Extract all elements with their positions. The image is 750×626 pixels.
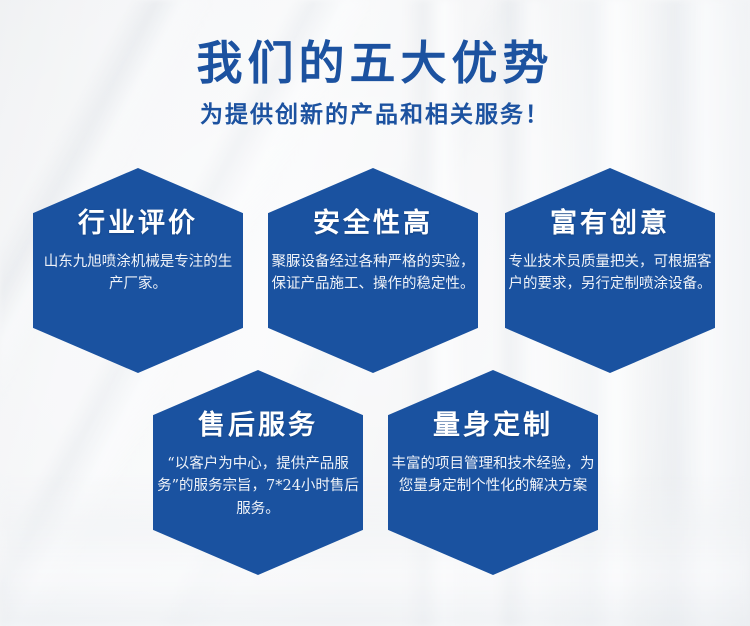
advantage-card-tailor-made: 量身定制 丰富的项目管理和技术经验，为您量身定制个性化的解决方案 <box>388 370 598 575</box>
advantage-description: 山东九旭喷涂机械是专注的生产厂家。 <box>42 251 234 296</box>
advantage-card-industry-evaluation: 行业评价 山东九旭喷涂机械是专注的生产厂家。 <box>33 168 243 373</box>
advantage-description: “以客户为中心，提供产品服务”的服务宗旨，7*24小时售后服务。 <box>156 453 361 520</box>
advantage-title: 量身定制 <box>433 412 553 439</box>
banner-heading: 我们的五大优势 为提供创新的产品和相关服务！ <box>0 38 750 129</box>
advantage-card-after-sales-service: 售后服务 “以客户为中心，提供产品服务”的服务宗旨，7*24小时售后服务。 <box>153 370 363 575</box>
advantages-banner: 我们的五大优势 为提供创新的产品和相关服务！ 行业评价 山东九旭喷涂机械是专注的… <box>0 0 750 626</box>
advantage-description: 丰富的项目管理和技术经验，为您量身定制个性化的解决方案 <box>391 453 596 498</box>
page-subtitle: 为提供创新的产品和相关服务！ <box>0 102 750 130</box>
page-title: 我们的五大优势 <box>0 38 750 90</box>
advantage-title: 富有创意 <box>550 210 670 237</box>
advantage-title: 行业评价 <box>78 210 198 237</box>
advantage-description: 聚脲设备经过各种严格的实验，保证产品施工、操作的稳定性。 <box>271 251 476 296</box>
advantage-title: 售后服务 <box>198 412 318 439</box>
advantage-description: 专业技术员质量把关，可根据客户的要求，另行定制喷涂设备。 <box>508 251 713 296</box>
advantage-title: 安全性高 <box>313 210 433 237</box>
advantage-card-high-safety: 安全性高 聚脲设备经过各种严格的实验，保证产品施工、操作的稳定性。 <box>268 168 478 373</box>
advantage-card-creative: 富有创意 专业技术员质量把关，可根据客户的要求，另行定制喷涂设备。 <box>505 168 715 373</box>
